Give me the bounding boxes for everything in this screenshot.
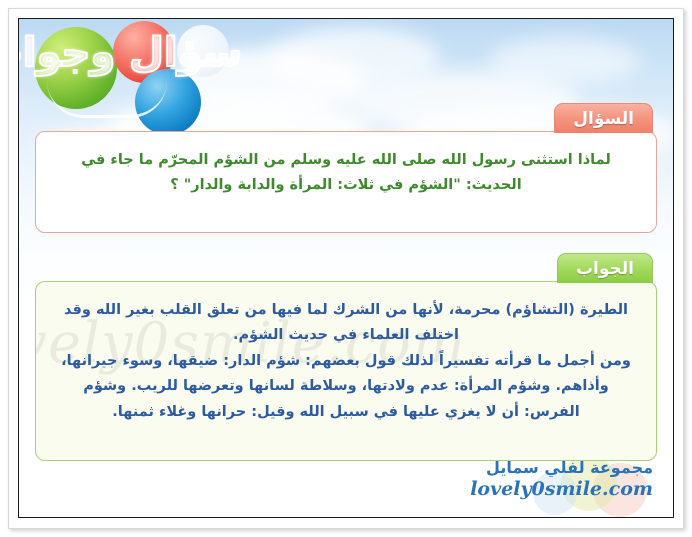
blue-balloon-icon: [135, 69, 201, 135]
qa-card-page: سؤال وجواب السؤال لماذا استثنى رسول الله…: [0, 0, 692, 537]
logo-wordmark: سؤال وجواب: [27, 33, 242, 73]
question-tab-label: السؤال: [573, 109, 634, 129]
question-box: لماذا استثنى رسول الله صلى الله عليه وسل…: [35, 131, 657, 233]
cloud-icon: [349, 71, 579, 133]
answer-tab-label: الجواب: [576, 259, 634, 279]
cloud-icon: [269, 27, 439, 87]
answer-tab: الجواب: [557, 253, 653, 283]
site-logo: سؤال وجواب: [27, 21, 242, 121]
footer-arabic-label: مجموعة لفلي سمايل: [470, 458, 653, 478]
answer-paragraph: الطيرة (التشاؤم) محرمة، لأنها من الشرك ل…: [58, 298, 634, 349]
answer-paragraph: ومن أجمل ما قرأته تفسيراً لذلك قول بعضهم…: [58, 349, 634, 425]
question-tab: السؤال: [554, 103, 653, 133]
sky-card: سؤال وجواب السؤال لماذا استثنى رسول الله…: [18, 18, 674, 518]
footer-url-label: lovely0smile.com: [470, 478, 653, 501]
question-text: لماذا استثنى رسول الله صلى الله عليه وسل…: [58, 148, 634, 199]
footer-branding: مجموعة لفلي سمايل lovely0smile.com: [470, 458, 653, 501]
cloud-icon: [489, 37, 639, 85]
answer-box: lovely0smile.com الطيرة (التشاؤم) محرمة،…: [35, 281, 657, 461]
